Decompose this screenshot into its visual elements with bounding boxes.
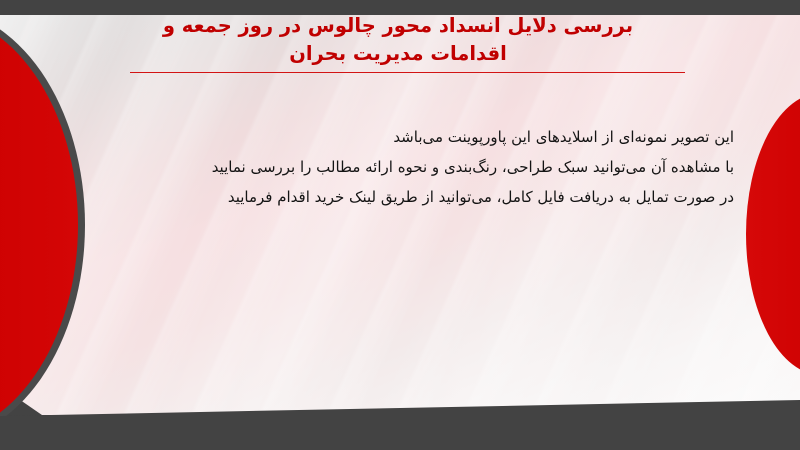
slide-title-line-2: اقدامات مدیریت بحران <box>60 40 736 68</box>
body-line-1: این تصویر نمونه‌ای از اسلایدهای این پاور… <box>74 122 734 152</box>
panel-sheen-overlay <box>0 14 800 415</box>
presentation-slide: بررسی دلایل انسداد محور چالوس در روز جمع… <box>0 0 800 450</box>
slide-title-line-1: بررسی دلایل انسداد محور چالوس در روز جمع… <box>60 12 736 40</box>
slide-content-panel <box>0 14 800 415</box>
slide-title: بررسی دلایل انسداد محور چالوس در روز جمع… <box>60 12 736 67</box>
body-line-2: با مشاهده آن می‌توانید سبک طراحی، رنگ‌بن… <box>74 152 734 182</box>
body-line-3: در صورت تمایل به دریافت فایل کامل، می‌تو… <box>74 182 734 212</box>
slide-body-text: این تصویر نمونه‌ای از اسلایدهای این پاور… <box>74 122 734 212</box>
title-underline-rule <box>130 72 685 73</box>
